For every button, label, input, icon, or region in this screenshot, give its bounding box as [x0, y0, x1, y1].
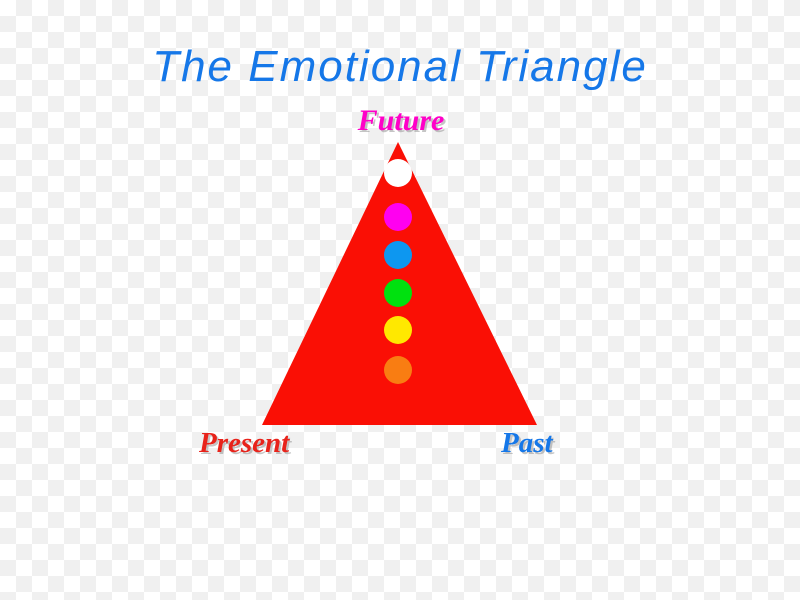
emotional-triangle-diagram: Future Present Past: [0, 0, 800, 600]
dot-magenta: [384, 203, 412, 231]
vertex-label-future: Future: [1, 104, 800, 138]
vertex-label-past: Past: [501, 427, 553, 460]
dot-white: [384, 159, 412, 187]
dot-green: [384, 279, 412, 307]
dot-yellow: [384, 316, 412, 344]
diagram-canvas: The Emotional Triangle Future Present Pa…: [0, 0, 800, 600]
vertex-label-present: Present: [199, 427, 289, 460]
dot-orange: [384, 356, 412, 384]
dot-blue: [384, 241, 412, 269]
